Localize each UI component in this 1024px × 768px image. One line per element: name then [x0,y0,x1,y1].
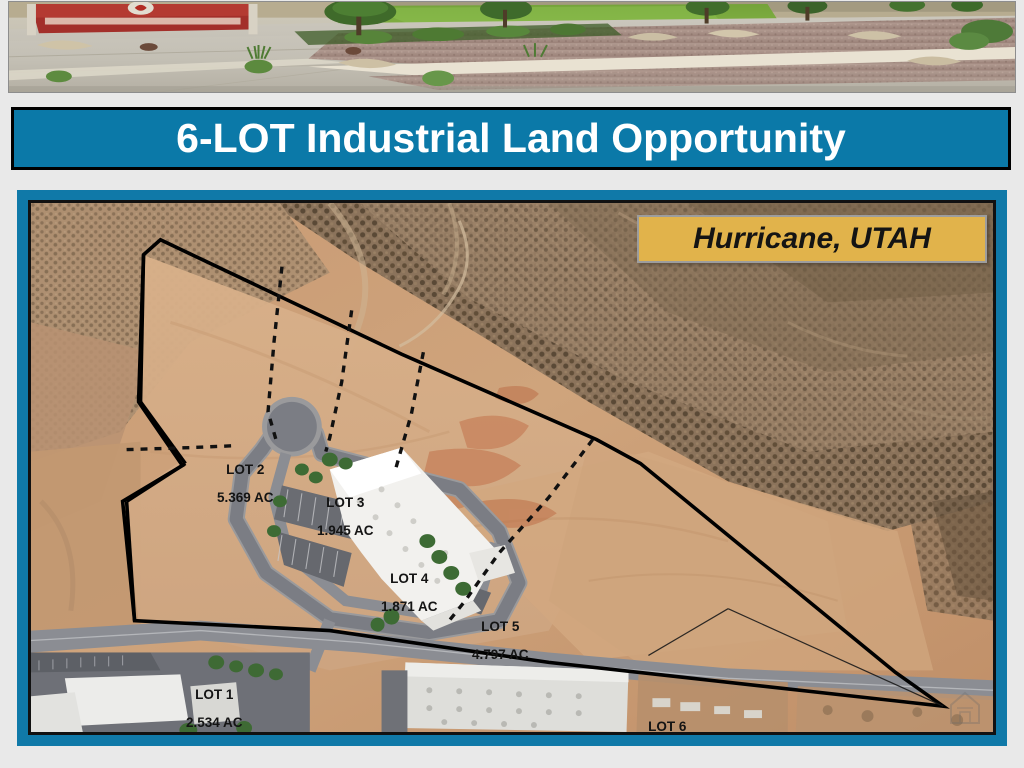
lot-acreage: 5.369 AC [217,491,274,505]
lot-name: LOT 5 [472,620,529,634]
lot-acreage: 1.945 AC [317,524,374,538]
lot-name: LOT 3 [317,496,374,510]
page-title: 6-LOT Industrial Land Opportunity [176,115,846,162]
header-photo-banner [8,1,1016,93]
lot-acreage: 1.871 AC [381,600,438,614]
slide-title-bar: 6-LOT Industrial Land Opportunity [11,107,1011,170]
lot-name: LOT 2 [217,463,274,477]
lot-name: LOT 4 [381,572,438,586]
lot-label-2: LOT 25.369 AC [217,463,274,505]
lot-label-4: LOT 41.871 AC [381,572,438,614]
lot-label-5: LOT 54.797 AC [472,620,529,662]
lot-name: LOT 1 [186,688,243,702]
location-badge: Hurricane, UTAH [637,215,987,263]
aerial-map-viewport[interactable]: Hurricane, UTAH LOT 12.534 ACLOT 25.369 … [28,200,996,735]
lot-acreage: 4.797 AC [472,648,529,662]
header-photo-image [9,2,1015,92]
aerial-map-frame: Hurricane, UTAH LOT 12.534 ACLOT 25.369 … [17,190,1007,746]
lot-name: LOT 6 [639,720,696,734]
watermark-logo [945,688,985,728]
lot-label-1: LOT 12.534 AC [186,688,243,730]
lot-label-6: LOT 67.677 AC [639,720,696,735]
existing-development [31,652,310,732]
lot-label-3: LOT 31.945 AC [317,496,374,538]
location-text: Hurricane, UTAH [693,222,931,256]
lot-acreage: 2.534 AC [186,716,243,730]
